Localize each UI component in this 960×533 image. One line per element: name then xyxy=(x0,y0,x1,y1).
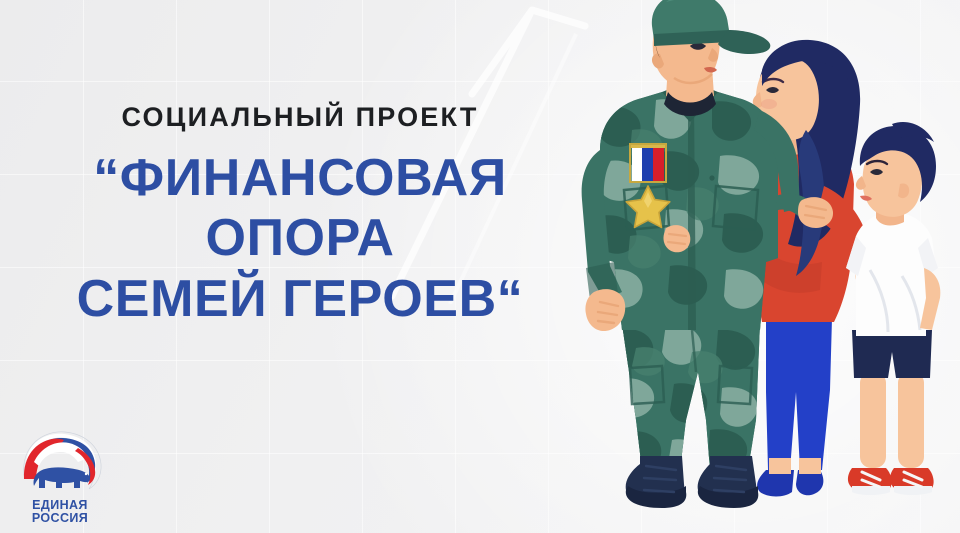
boy-figure xyxy=(846,122,940,495)
logo-wordmark: ЕДИНАЯ РОССИЯ xyxy=(12,499,108,526)
bear-flag-emblem-icon xyxy=(12,426,108,498)
title-line-1: “ФИНАНСОВАЯ xyxy=(0,153,600,203)
combat-boot-left xyxy=(626,456,687,508)
title-line-3: СЕМЕЙ ГЕРОЕВ“ xyxy=(0,274,600,324)
combat-boot-right xyxy=(698,456,759,508)
united-russia-logo: ЕДИНАЯ РОССИЯ xyxy=(12,426,108,526)
title-line-2: ОПОРА xyxy=(0,213,600,263)
logo-word-line-1: ЕДИНАЯ xyxy=(12,499,108,512)
red-sneaker-right xyxy=(890,468,934,495)
kicker-text: СОЦИАЛЬНЫЙ ПРОЕКТ xyxy=(0,104,600,131)
page-title: “ФИНАНСОВАЯ ОПОРА СЕМЕЙ ГЕРОЕВ“ xyxy=(0,153,600,324)
headline-block: СОЦИАЛЬНЫЙ ПРОЕКТ “ФИНАНСОВАЯ ОПОРА СЕМЕ… xyxy=(0,104,600,324)
red-sneaker-left xyxy=(848,468,892,495)
logo-word-line-2: РОССИЯ xyxy=(12,512,108,525)
camouflage-pattern-pants xyxy=(610,310,780,490)
poster-canvas: СОЦИАЛЬНЫЙ ПРОЕКТ “ФИНАНСОВАЯ ОПОРА СЕМЕ… xyxy=(0,0,960,533)
family-of-hero-illustration xyxy=(570,0,960,533)
